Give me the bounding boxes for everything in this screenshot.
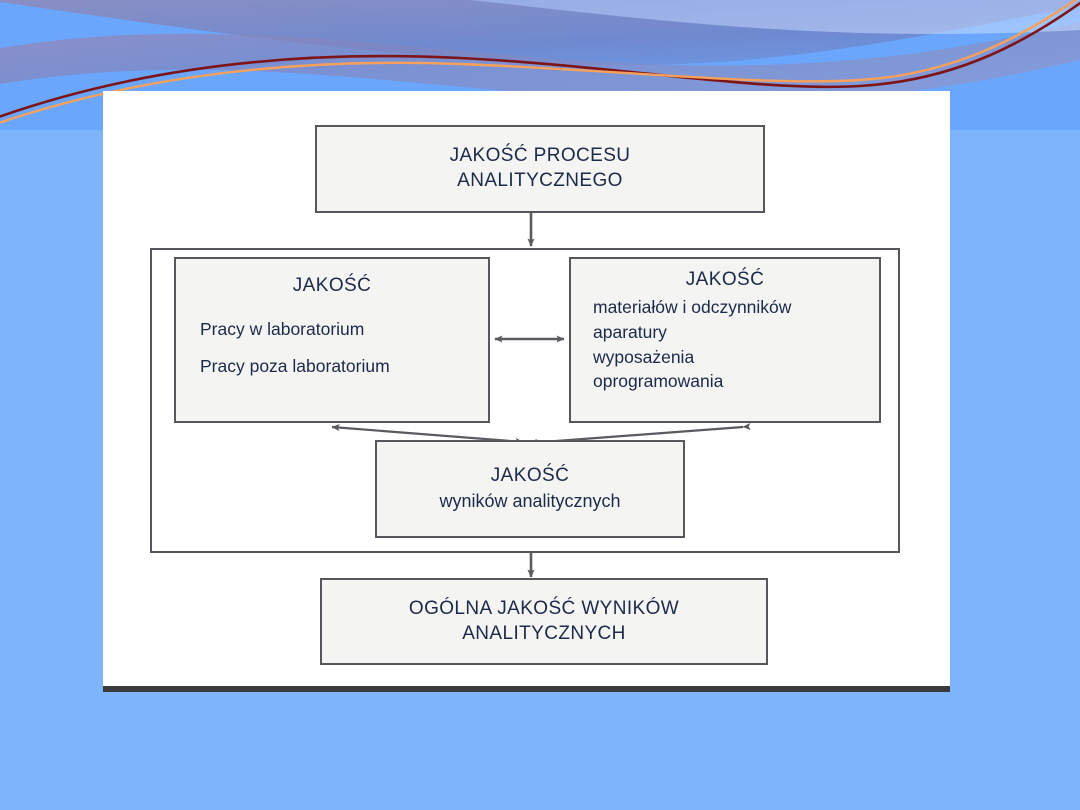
box-centre-title: JAKOŚĆ xyxy=(491,465,569,487)
box-right-line-3: wyposażenia xyxy=(571,346,879,369)
box-quality-of-analytical-process: JAKOŚĆ PROCESU ANALITYCZNEGO xyxy=(315,125,765,213)
box-quality-of-work: JAKOŚĆ Pracy w laboratorium Pracy poza l… xyxy=(174,257,490,423)
box-overall-quality-of-results: OGÓLNA JAKOŚĆ WYNIKÓW ANALITYCZNYCH xyxy=(320,578,768,665)
slide: JAKOŚĆ PROCESU ANALITYCZNEGO JAKOŚĆ Prac… xyxy=(0,0,1080,810)
box-left-line-2: Pracy poza laboratorium xyxy=(176,355,488,378)
box-right-line-1: materiałów i odczynników xyxy=(571,296,879,319)
box-left-line-1: Pracy w laboratorium xyxy=(176,318,488,341)
box-top-line-2: ANALITYCZNEGO xyxy=(457,169,623,194)
diagram-image: JAKOŚĆ PROCESU ANALITYCZNEGO JAKOŚĆ Prac… xyxy=(103,91,950,686)
diagram-image-shadow xyxy=(103,686,950,692)
box-quality-of-results: JAKOŚĆ wyników analitycznych xyxy=(375,440,685,538)
box-left-title: JAKOŚĆ xyxy=(176,275,488,297)
box-centre-subtitle: wyników analitycznych xyxy=(439,490,620,513)
wave-band-pale xyxy=(470,0,1080,34)
box-top-line-1: JAKOŚĆ PROCESU xyxy=(450,144,631,169)
box-right-line-2: aparatury xyxy=(571,321,879,344)
box-quality-of-materials: JAKOŚĆ materiałów i odczynników aparatur… xyxy=(569,257,881,423)
box-right-title: JAKOŚĆ xyxy=(571,269,879,291)
box-bottom-line-2: ANALITYCZNYCH xyxy=(462,622,626,647)
box-bottom-line-1: OGÓLNA JAKOŚĆ WYNIKÓW xyxy=(409,597,679,622)
box-right-line-4: oprogramowania xyxy=(571,370,879,393)
